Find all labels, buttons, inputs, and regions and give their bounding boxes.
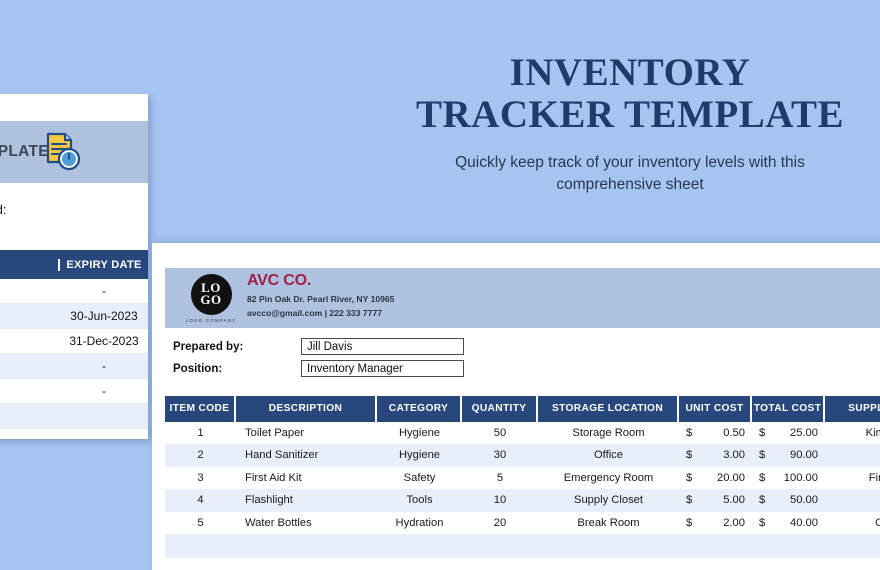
col-unit-cost[interactable]: UNIT COST	[679, 396, 752, 422]
col-quantity[interactable]: QUANTITY	[462, 396, 538, 422]
inventory-table-header: ITEM CODE DESCRIPTION CATEGORY QUANTITY …	[165, 396, 880, 422]
cell-description: First Aid Kit	[236, 467, 377, 490]
cell-category	[377, 534, 462, 557]
cell-unit-cost-value: 5.00	[723, 489, 745, 512]
cell-total-cost: $ 100.00	[752, 467, 825, 490]
position-input[interactable]: Inventory Manager	[301, 360, 464, 377]
cell-total-cost	[752, 534, 825, 557]
cell-quantity	[462, 534, 538, 557]
cell-expiry-date: -	[60, 284, 148, 298]
cell-total-cost-value: 40.00	[790, 512, 818, 535]
cell-unit-cost-value: 3.00	[723, 444, 745, 467]
cell-payment-date: 023	[0, 359, 60, 373]
cell-total-cost: $ 50.00	[752, 489, 825, 512]
cell-unit-cost: $ 3.00	[679, 444, 752, 467]
currency-symbol: $	[686, 444, 692, 467]
cell-quantity: 20	[462, 512, 538, 535]
prepared-by-label: Prepared by:	[173, 341, 243, 353]
page-subtitle: Quickly keep track of your inventory lev…	[400, 152, 860, 196]
cell-item-code	[165, 557, 236, 570]
cell-unit-cost-value: 0.50	[723, 422, 745, 445]
table-row[interactable]: 1 Toilet Paper Hygiene 50 Storage Room $…	[165, 422, 880, 445]
cell-item-code: 1	[165, 422, 236, 445]
cell-category: Safety	[377, 467, 462, 490]
cell-item-code	[165, 534, 236, 557]
cell-unit-cost: $ 2.00	[679, 512, 752, 535]
cell-item-code: 5	[165, 512, 236, 535]
cell-category: Hydration	[377, 512, 462, 535]
currency-symbol: $	[686, 422, 692, 445]
document-stopwatch-icon	[40, 131, 82, 178]
cell-storage-location	[538, 557, 679, 570]
cell-storage-location: Office	[538, 444, 679, 467]
cell-unit-cost	[679, 557, 752, 570]
page-title: INVENTORY TRACKER TEMPLATE	[400, 52, 860, 136]
back-sheet-date-prepared-label: e Prepared:	[0, 203, 6, 217]
cell-expiry-date: -	[60, 384, 148, 398]
cell-supplier: CamelBa	[825, 512, 880, 535]
cell-category: Hygiene	[377, 444, 462, 467]
company-info: AVC CO. 82 Pin Oak Dr. Pearl River, NY 1…	[247, 272, 394, 318]
company-contact: avcco@gmail.com | 222 333 7777	[247, 308, 394, 318]
cell-payment-date: 023	[0, 384, 60, 398]
cell-unit-cost	[679, 534, 752, 557]
cell-total-cost-value: 50.00	[790, 489, 818, 512]
page-subtitle-line-2: comprehensive sheet	[400, 174, 860, 196]
currency-symbol: $	[759, 444, 765, 467]
back-sheet-col-expiry-date: EXPIRY DATE	[60, 259, 148, 271]
cell-description: Water Bottles	[236, 512, 377, 535]
table-row[interactable]: 023 30-Jun-2023	[0, 304, 148, 329]
prepared-by-input[interactable]: Jill Davis	[301, 338, 464, 355]
col-storage-location[interactable]: STORAGE LOCATION	[538, 396, 679, 422]
cell-item-code: 4	[165, 489, 236, 512]
logo-text-line-2: GO	[200, 294, 221, 306]
cell-storage-location: Break Room	[538, 512, 679, 535]
cell-unit-cost: $ 5.00	[679, 489, 752, 512]
position-label: Position:	[173, 363, 222, 375]
cell-category: Hygiene	[377, 422, 462, 445]
cell-quantity: 10	[462, 489, 538, 512]
cell-item-code: 3	[165, 467, 236, 490]
page-subtitle-line-1: Quickly keep track of your inventory lev…	[400, 152, 860, 174]
cell-payment-date: 023	[0, 284, 60, 298]
cell-storage-location: Supply Closet	[538, 489, 679, 512]
cell-unit-cost: $ 0.50	[679, 422, 752, 445]
hero-section: INVENTORY TRACKER TEMPLATE Quickly keep …	[400, 52, 860, 196]
cell-supplier: Purell	[825, 444, 880, 467]
cell-storage-location: Storage Room	[538, 422, 679, 445]
cell-category: Tools	[377, 489, 462, 512]
cell-total-cost-value: 100.00	[784, 467, 818, 490]
cell-description	[236, 557, 377, 570]
cell-storage-location	[538, 534, 679, 557]
cell-total-cost-value: 25.00	[790, 422, 818, 445]
currency-symbol: $	[759, 422, 765, 445]
cell-total-cost	[752, 557, 825, 570]
currency-symbol: $	[686, 489, 692, 512]
currency-symbol: $	[759, 489, 765, 512]
col-item-code[interactable]: ITEM CODE	[165, 396, 236, 422]
col-supplier[interactable]: SUPPLIER	[825, 396, 880, 422]
table-row[interactable]: 3 First Aid Kit Safety 5 Emergency Room …	[165, 467, 880, 490]
cell-supplier	[825, 534, 880, 557]
table-row[interactable]: 4 Flashlight Tools 10 Supply Closet $ 5.…	[165, 490, 880, 513]
back-sheet-col-payment-date: MENT DATE	[0, 259, 60, 271]
cell-total-cost: $ 90.00	[752, 444, 825, 467]
company-name: AVC CO.	[247, 272, 394, 290]
cell-total-cost: $ 25.00	[752, 422, 825, 445]
cell-description: Toilet Paper	[236, 422, 377, 445]
cell-supplier: First Aid O	[825, 467, 880, 490]
back-sheet-table-header: MENT DATE EXPIRY DATE	[0, 250, 148, 279]
cell-quantity: 5	[462, 467, 538, 490]
table-row[interactable]	[0, 429, 148, 439]
cell-total-cost-value: 90.00	[790, 444, 818, 467]
cell-unit-cost-value: 20.00	[717, 467, 745, 490]
company-address: 82 Pin Oak Dr. Pearl River, NY 10965	[247, 294, 394, 304]
currency-symbol: $	[759, 467, 765, 490]
cell-storage-location: Emergency Room	[538, 467, 679, 490]
cell-expiry-date: 31-Dec-2023	[60, 334, 148, 348]
cell-description: Flashlight	[236, 489, 377, 512]
cell-supplier: Maglite	[825, 489, 880, 512]
page-title-line-1: INVENTORY	[400, 52, 860, 94]
table-row[interactable]: 023 -	[0, 379, 148, 404]
cell-payment-date: 23	[0, 334, 60, 348]
cell-quantity	[462, 557, 538, 570]
cell-total-cost: $ 40.00	[752, 512, 825, 535]
cell-expiry-date: 30-Jun-2023	[60, 309, 148, 323]
cell-supplier	[825, 557, 880, 570]
table-row[interactable]	[165, 558, 880, 570]
col-description[interactable]: DESCRIPTION	[236, 396, 377, 422]
cell-description: Hand Sanitizer	[236, 444, 377, 467]
table-row[interactable]: 2 Hand Sanitizer Hygiene 30 Office $ 3.0…	[165, 445, 880, 468]
logo-caption: LOGO COMPANY	[186, 318, 237, 323]
back-sheet-table: MENT DATE EXPIRY DATE 023 - 023 30-Jun-2…	[0, 250, 148, 439]
table-row[interactable]	[0, 404, 148, 429]
currency-symbol: $	[759, 512, 765, 535]
company-logo: LO GO LOGO COMPANY	[183, 270, 239, 326]
table-row[interactable]: 5 Water Bottles Hydration 20 Break Room …	[165, 512, 880, 535]
back-sheet-card[interactable]: INVENTORY TRACKER TEMPLATE e Prepared: l…	[0, 94, 148, 439]
table-row[interactable]: 023 -	[0, 354, 148, 379]
cell-unit-cost-value: 2.00	[723, 512, 745, 535]
table-row[interactable]: 23 31-Dec-2023	[0, 329, 148, 354]
cell-description	[236, 534, 377, 557]
logo-circle-icon: LO GO	[191, 274, 232, 315]
inventory-table: ITEM CODE DESCRIPTION CATEGORY QUANTITY …	[165, 396, 880, 570]
table-row[interactable]	[165, 535, 880, 558]
cell-expiry-date: -	[60, 359, 148, 373]
cell-payment-date: 023	[0, 309, 60, 323]
cell-quantity: 30	[462, 444, 538, 467]
cell-quantity: 50	[462, 422, 538, 445]
col-category[interactable]: CATEGORY	[377, 396, 462, 422]
cell-supplier: Kimberly-C	[825, 422, 880, 445]
cell-category	[377, 557, 462, 570]
front-sheet-card[interactable]: LO GO LOGO COMPANY AVC CO. 82 Pin Oak Dr…	[152, 243, 880, 570]
cell-unit-cost: $ 20.00	[679, 467, 752, 490]
back-sheet-header: INVENTORY TRACKER TEMPLATE	[0, 121, 148, 183]
col-total-cost[interactable]: TOTAL COST	[752, 396, 825, 422]
company-banner: LO GO LOGO COMPANY AVC CO. 82 Pin Oak Dr…	[165, 268, 880, 328]
page-title-line-2: TRACKER TEMPLATE	[400, 94, 860, 136]
table-row[interactable]: 023 -	[0, 279, 148, 304]
cell-item-code: 2	[165, 444, 236, 467]
currency-symbol: $	[686, 467, 692, 490]
currency-symbol: $	[686, 512, 692, 535]
